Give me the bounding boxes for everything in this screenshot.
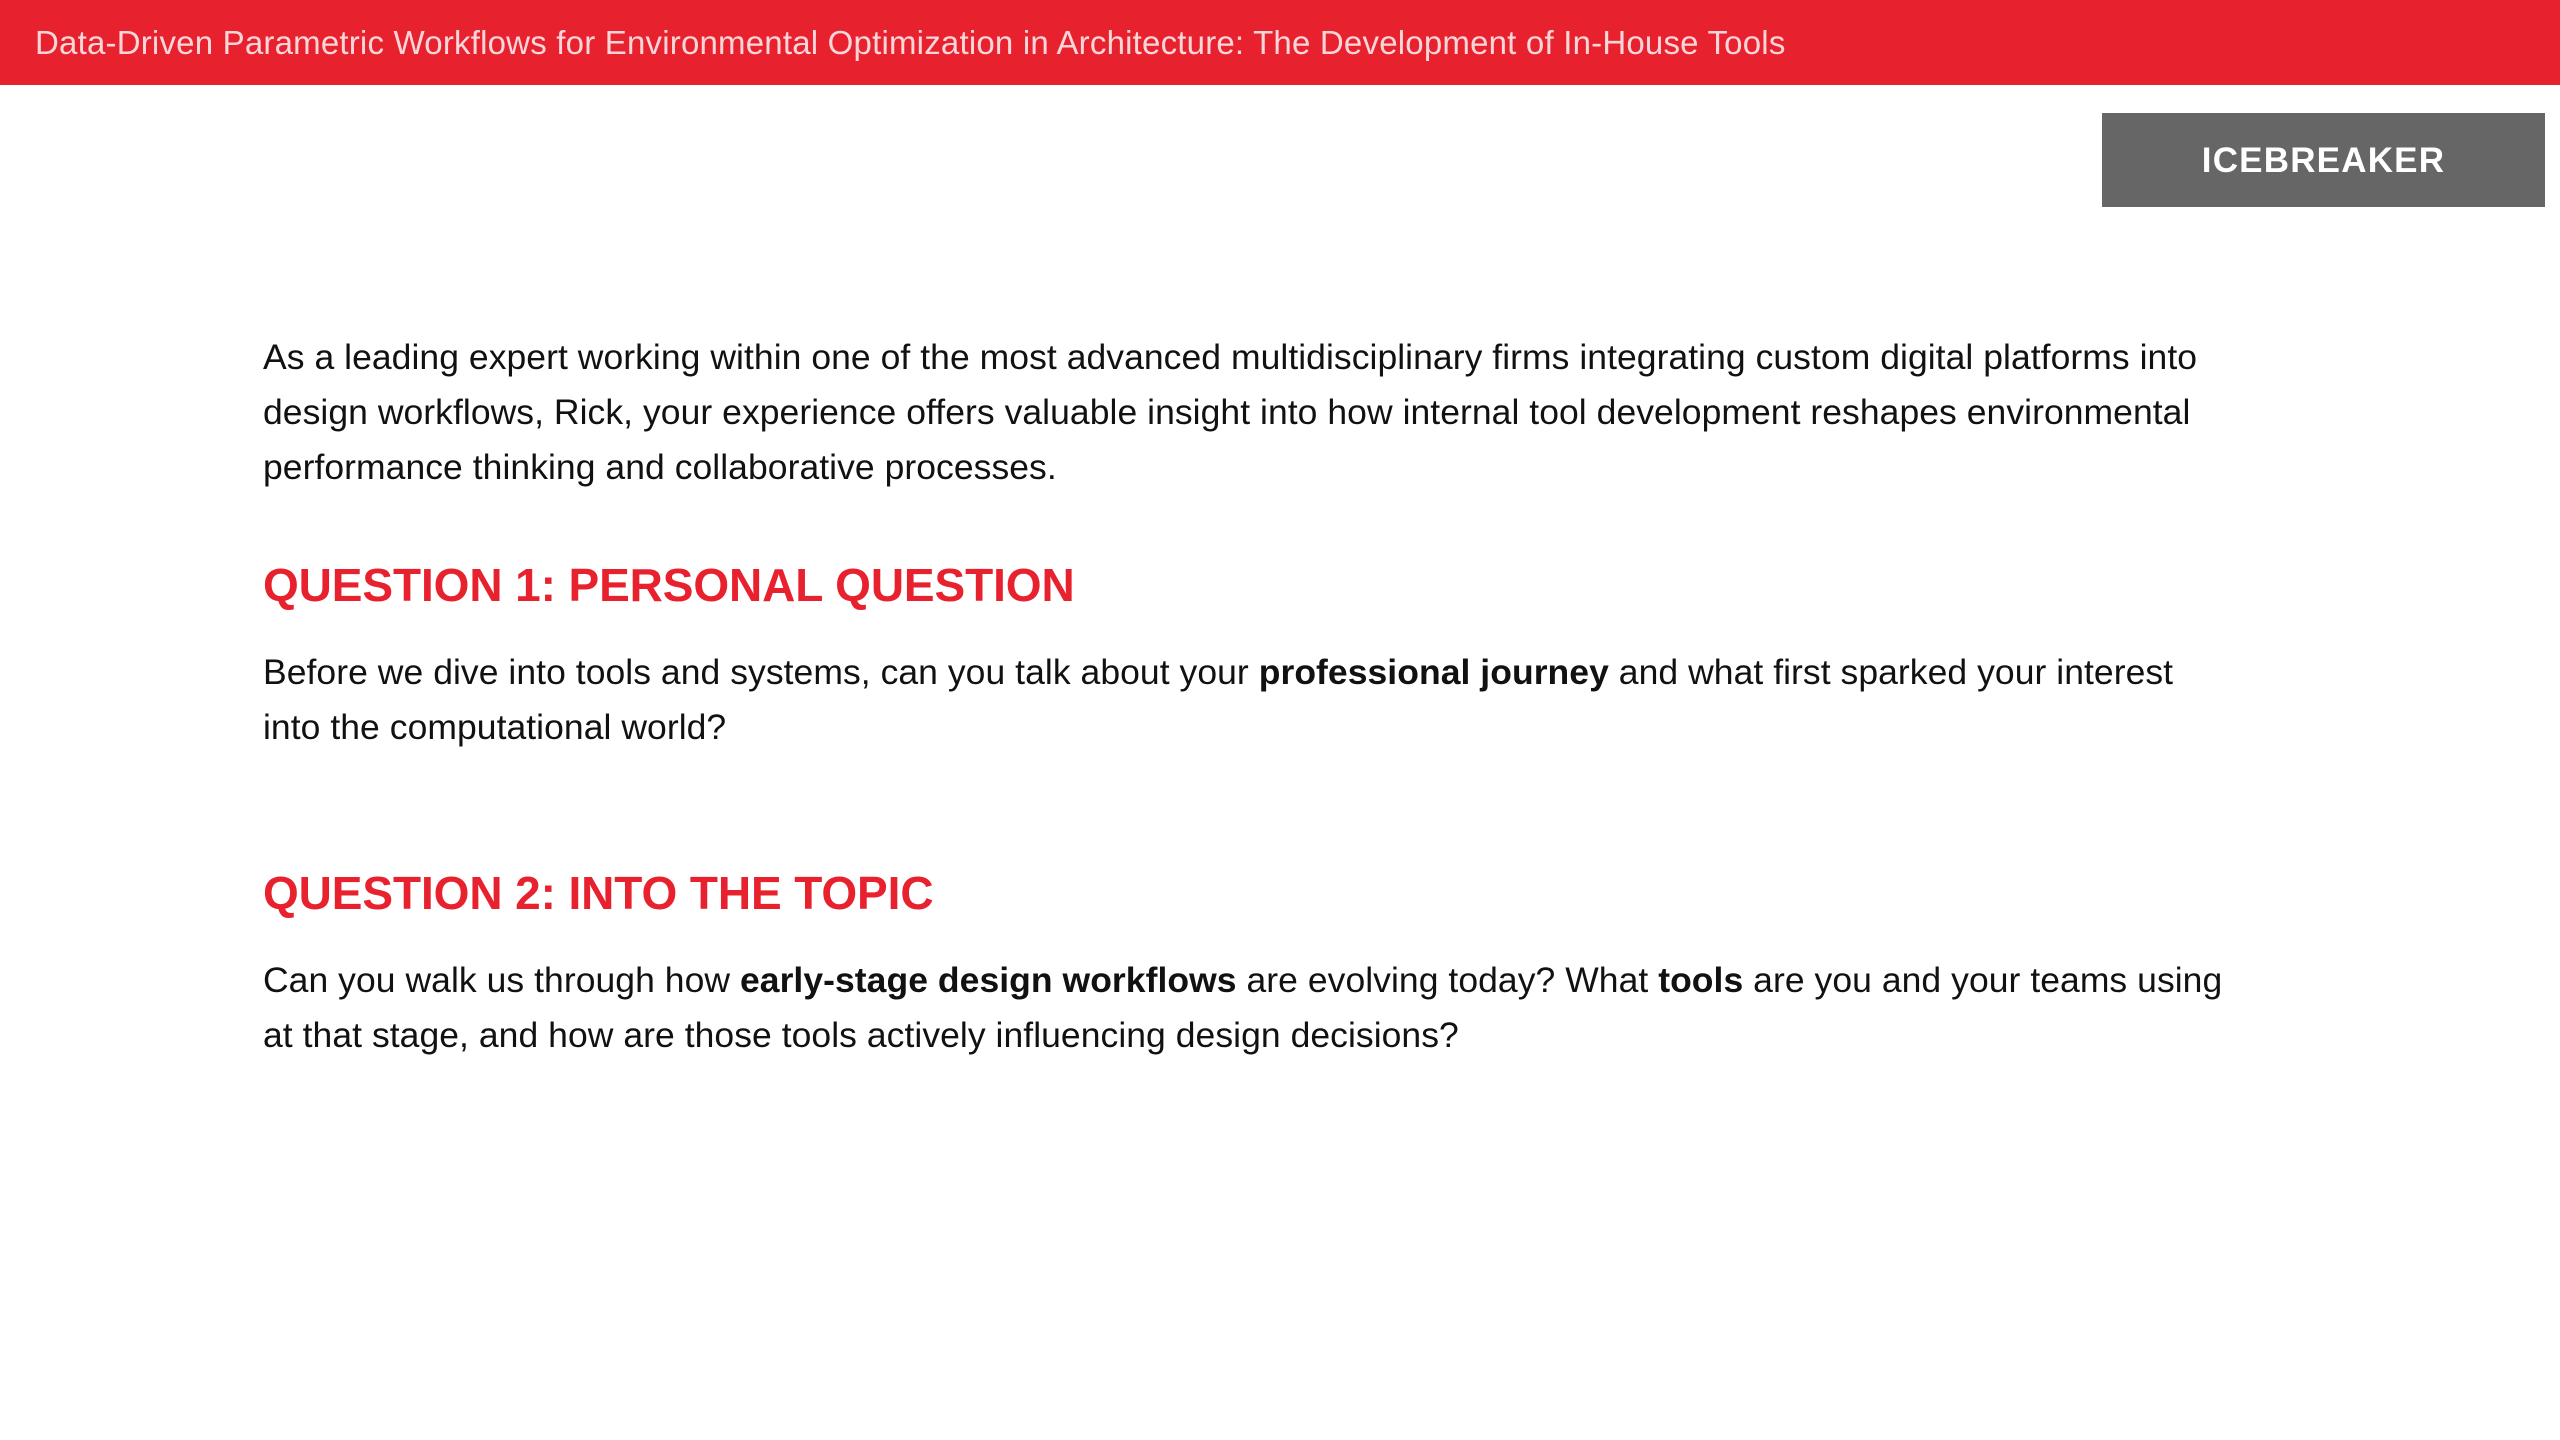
presentation-title-bar: Data-Driven Parametric Workflows for Env… bbox=[0, 0, 2560, 85]
emphasis-text: early-stage design workflows bbox=[740, 960, 1237, 1000]
slide-root: Data-Driven Parametric Workflows for Env… bbox=[0, 0, 2560, 1440]
emphasis-text: professional journey bbox=[1259, 652, 1609, 692]
question-2-heading: QUESTION 2: INTO THE TOPIC bbox=[263, 870, 2273, 916]
presentation-title: Data-Driven Parametric Workflows for Env… bbox=[35, 26, 1786, 59]
question-block-1: QUESTION 1: PERSONAL QUESTION Before we … bbox=[263, 562, 2273, 755]
plain-text: Can you walk us through how bbox=[263, 960, 740, 1000]
question-1-body: Before we dive into tools and systems, c… bbox=[263, 645, 2223, 755]
emphasis-text: tools bbox=[1658, 960, 1743, 1000]
plain-text: Before we dive into tools and systems, c… bbox=[263, 652, 1259, 692]
intro-paragraph: As a leading expert working within one o… bbox=[263, 330, 2223, 495]
question-1-heading: QUESTION 1: PERSONAL QUESTION bbox=[263, 562, 2273, 608]
question-block-2: QUESTION 2: INTO THE TOPIC Can you walk … bbox=[263, 870, 2273, 1063]
slide-content: As a leading expert working within one o… bbox=[263, 330, 2273, 1063]
question-2-body: Can you walk us through how early-stage … bbox=[263, 953, 2223, 1063]
plain-text: are evolving today? What bbox=[1237, 960, 1659, 1000]
section-badge-label: ICEBREAKER bbox=[2202, 143, 2445, 178]
section-badge: ICEBREAKER bbox=[2102, 113, 2545, 207]
